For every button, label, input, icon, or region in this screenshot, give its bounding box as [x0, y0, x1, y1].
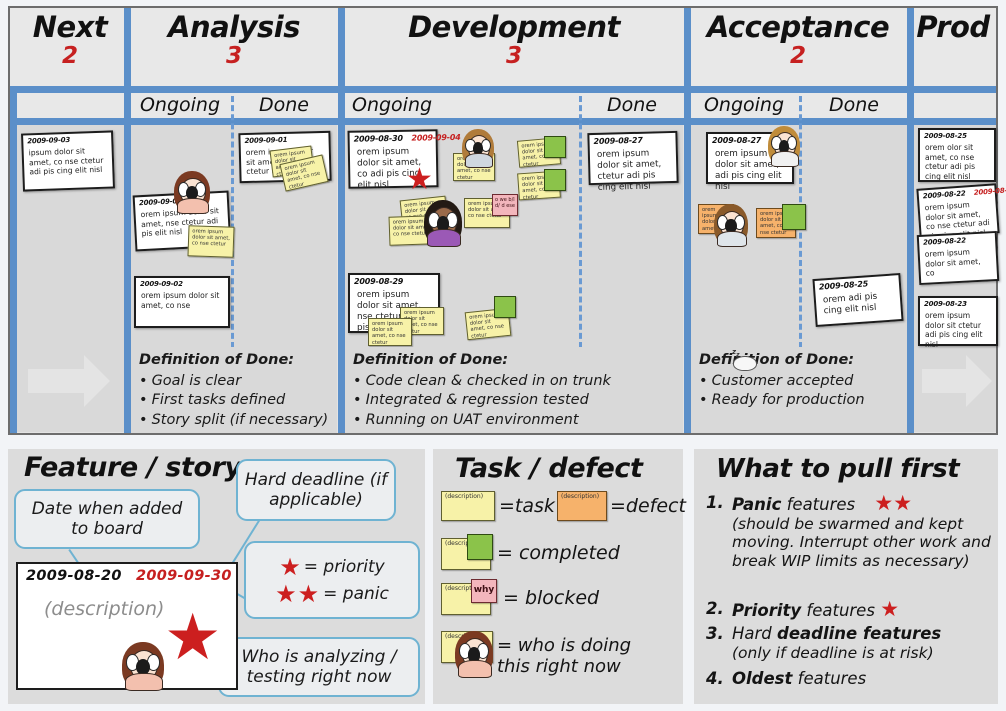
- example-card-deadline: 2009-09-30: [136, 568, 232, 584]
- dod-title: Definition of Done:: [699, 351, 907, 371]
- pull-item-note: (should be swarmed and kept moving. Inte…: [732, 515, 994, 571]
- pull-item-keyword: Oldest: [732, 669, 792, 688]
- bubble-who-is-working: Who is analyzing / testing right now: [218, 637, 420, 697]
- dod-list: Code clean & checked in on trunk Integra…: [353, 372, 683, 431]
- board-hrule-sub: [10, 118, 996, 125]
- pull-item-number: 4.: [706, 669, 724, 689]
- column-name: Next: [16, 10, 124, 44]
- panic-label: = panic: [323, 584, 389, 604]
- subdivider-analysis: [231, 96, 234, 348]
- card[interactable]: 2009-08-27 orem ipsum dolor sit amet, ct…: [587, 131, 678, 185]
- definition-of-done-acceptance: Definition of Done: Customer accepted Re…: [691, 347, 907, 433]
- card-date: 2009-08-30: [354, 134, 403, 144]
- card-text: orem ipsum dolor sit amet, ctetur adi pi…: [590, 144, 677, 198]
- priority-row-one-star: ★ = priority: [279, 555, 385, 579]
- dod-item: First tasks defined: [139, 391, 337, 411]
- column-name: Development: [344, 10, 684, 44]
- example-card-date: 2009-08-20: [26, 568, 122, 584]
- dod-item: Customer accepted: [699, 372, 907, 392]
- column-divider-2: [338, 8, 345, 433]
- card[interactable]: 2009-09-02 orem ipsum dolor sit amet, co…: [134, 276, 230, 328]
- column-name: Analysis: [130, 10, 338, 44]
- column-header-acceptance: Acceptance 2: [688, 10, 908, 68]
- column-header-analysis: Analysis 3: [130, 10, 338, 68]
- defect-swatch: (description): [557, 491, 607, 521]
- board-subheader-row: Ongoing Done Ongoing Done Ongoing Done: [10, 92, 996, 118]
- legend-task-defect: Task / defect (description) =task (descr…: [433, 449, 683, 704]
- pull-item-note: (only if deadline is at risk): [732, 644, 994, 663]
- card-dates: 2009-08-29: [350, 275, 438, 286]
- flow-arrow-left: [28, 353, 114, 409]
- dod-title: Definition of Done:: [353, 351, 683, 371]
- card-date: 2009-08-25: [924, 132, 967, 140]
- pull-item-keyword: Hard: [732, 624, 777, 643]
- completed-label: = completed: [497, 542, 620, 564]
- card-text: orem olor sit amet, co nse ctetur adi pi…: [920, 140, 994, 184]
- dod-list: Customer accepted Ready for production: [699, 372, 907, 411]
- priority-label: = priority: [304, 557, 385, 577]
- avatar: [768, 126, 800, 166]
- pull-item-keyword: Priority: [732, 601, 801, 620]
- column-name: Prod: [910, 10, 996, 44]
- flow-arrow-right: [922, 353, 998, 409]
- bubble-hard-deadline: Hard deadline (if applicable): [236, 459, 396, 521]
- card[interactable]: 2009-08-25 orem adi pis cing elit nisl: [812, 273, 903, 327]
- dod-title: Definition of Done:: [139, 351, 337, 371]
- subcol-analysis-ongoing: Ongoing: [130, 93, 230, 117]
- pull-item-3: 3. Hard deadline features (only if deadl…: [706, 624, 994, 662]
- subcol-analysis-done: Done: [234, 93, 334, 117]
- task-swatch: (description): [441, 491, 495, 521]
- board-hrule-top: [10, 86, 996, 93]
- column-name: Acceptance: [688, 10, 908, 44]
- card[interactable]: 2009-09-03 ipsum dolor sit amet, co nse …: [21, 130, 115, 191]
- pull-item-number: 2.: [706, 599, 724, 619]
- pull-item-keyword: Panic: [732, 495, 781, 514]
- card-dates: 2009-08-25: [920, 130, 994, 140]
- legend-feature-story: Feature / story Date when added to board…: [8, 449, 425, 704]
- pull-item-1: 1. Panic features ★★ (should be swarmed …: [706, 493, 994, 570]
- board-header-row: Next 2 Analysis 3 Development 3 Acceptan…: [10, 8, 996, 88]
- example-card-description: (description): [44, 598, 164, 620]
- column-divider-4: [907, 8, 914, 433]
- pull-item-body: Hard deadline features (only if deadline…: [732, 624, 994, 662]
- card-date: 2009-09-02: [140, 280, 183, 288]
- blocked-marker[interactable]: o we b/l d/ d ese: [492, 194, 518, 216]
- subcol-development-ongoing: Ongoing: [346, 93, 492, 117]
- subcol-acceptance-done: Done: [802, 93, 906, 117]
- card-date: 2009-08-27: [593, 136, 642, 146]
- pull-item-2: 2. Priority features ★: [706, 599, 994, 621]
- completed-marker[interactable]: [782, 204, 806, 230]
- card-date: 2009-08-29: [354, 277, 403, 286]
- dod-item: Integrated & regression tested: [353, 391, 683, 411]
- dod-item: Goal is clear: [139, 372, 337, 392]
- card-date: 2009-09-03: [27, 136, 70, 145]
- completed-marker[interactable]: [544, 169, 566, 191]
- task-swatch-label: =task: [499, 495, 555, 517]
- card-dates: 2009-09-02: [136, 278, 228, 288]
- bubble-date-added: Date when added to board: [14, 489, 200, 549]
- assignee-avatar-icon: [455, 631, 493, 677]
- avatar: [462, 129, 494, 167]
- card-date: 2009-08-27: [712, 136, 761, 145]
- avatar: [174, 171, 210, 213]
- card[interactable]: 2009-08-25 orem olor sit amet, co nse ct…: [918, 128, 996, 182]
- kanban-poster: Next 2 Analysis 3 Development 3 Acceptan…: [0, 0, 1006, 711]
- dod-item: Ready for production: [699, 391, 907, 411]
- panic-star-icon: ★: [874, 491, 893, 515]
- definition-of-done-analysis: Definition of Done: Goal is clear First …: [131, 347, 337, 433]
- card-text: ipsum dolor sit amet, co nse ctetur adi …: [23, 142, 112, 180]
- blocked-marker-icon: why: [471, 579, 497, 603]
- column-header-development: Development 3: [344, 10, 684, 68]
- legend-title: What to pull first: [716, 453, 959, 485]
- card-deadline: 2009-09-04: [411, 133, 460, 143]
- panic-star-icon: ★: [893, 491, 912, 515]
- wip-limit: 2: [16, 44, 124, 68]
- pull-item-rest: features: [792, 669, 866, 688]
- priority-star-icon: ★: [279, 555, 301, 579]
- pull-item-4: 4. Oldest features: [706, 669, 994, 689]
- pull-item-rest: features: [781, 495, 855, 514]
- pull-item-body: Panic features ★★ (should be swarmed and…: [732, 493, 994, 570]
- card-text: orem ipsum dolor sit amet, co: [919, 243, 997, 281]
- card[interactable]: 2009-08-23 orem ipsum dolor sit ctetur a…: [918, 296, 998, 346]
- subcol-acceptance-ongoing: Ongoing: [690, 93, 798, 117]
- legend-what-to-pull-first: What to pull first 1. Panic features ★★ …: [694, 449, 998, 704]
- priority-star: ★: [406, 165, 433, 195]
- pull-item-rest: deadline features: [777, 624, 941, 643]
- pull-item-rest: features: [801, 601, 875, 620]
- avatar: [424, 200, 462, 246]
- avatar: [714, 204, 748, 246]
- legend-title: Feature / story: [24, 452, 242, 484]
- pull-item-body: Oldest features: [732, 669, 994, 689]
- card-dates: 2009-08-30 2009-09-04: [350, 131, 436, 143]
- dod-item: Running on UAT environment: [353, 411, 683, 431]
- wip-limit: 2: [688, 44, 908, 68]
- subcol-development-done: Done: [582, 93, 682, 117]
- card-date: 2009-08-23: [924, 300, 967, 308]
- priority-row-two-stars: ★ ★ = panic: [275, 582, 389, 606]
- column-divider-1: [124, 8, 131, 433]
- column-header-prod: Prod: [910, 10, 996, 44]
- pull-item-number: 1.: [706, 493, 724, 513]
- legend-title: Task / defect: [455, 453, 643, 485]
- dod-item: Story split (if necessary): [139, 411, 337, 431]
- card-text: orem ipsum dolor sit ctetur adi pis cing…: [920, 308, 996, 352]
- wip-limit: 3: [130, 44, 338, 68]
- zzz-icon: zz: [732, 348, 739, 358]
- card-deadline: 2009-08-23: [974, 186, 1006, 197]
- panic-star-icon: ★: [298, 582, 320, 606]
- task-sticky[interactable]: orem ipsum dolor sit amet, co nse ctetur: [187, 225, 234, 258]
- defect-swatch-label: =defect: [610, 495, 686, 517]
- pull-item-number: 3.: [706, 624, 724, 644]
- assignee-label: = who is doing this right now: [497, 635, 669, 677]
- completed-marker-icon: [467, 534, 493, 560]
- column-divider-3: [684, 8, 691, 433]
- completed-marker[interactable]: [544, 136, 566, 158]
- example-avatar: [122, 642, 164, 690]
- definition-of-done-development: Definition of Done: Code clean & checked…: [345, 347, 683, 433]
- bubble-priority-legend: ★ = priority ★ ★ = panic: [244, 541, 420, 619]
- column-header-next: Next 2: [16, 10, 124, 68]
- subdivider-development: [579, 96, 582, 348]
- example-priority-star: ★: [164, 606, 221, 670]
- card[interactable]: 2009-08-22 orem ipsum dolor sit amet, co: [917, 231, 1000, 285]
- blocked-label: = blocked: [503, 587, 599, 609]
- pull-item-body: Priority features ★: [732, 599, 994, 621]
- task-sticky[interactable]: orem ipsum dolor sit amet, co nse ctetur: [368, 318, 412, 346]
- dod-list: Goal is clear First tasks defined Story …: [139, 372, 337, 431]
- kanban-board: Next 2 Analysis 3 Development 3 Acceptan…: [8, 6, 998, 435]
- completed-marker[interactable]: [494, 296, 516, 318]
- example-feature-card[interactable]: 2009-08-20 2009-09-30 (description) ★: [16, 562, 238, 690]
- wip-limit: 3: [344, 44, 684, 68]
- card-dates: 2009-08-23: [920, 298, 996, 308]
- card-date: 2009-09-01: [244, 136, 287, 145]
- board-left-edge: [10, 90, 17, 433]
- card-text: orem adi pis cing elit nisl: [815, 286, 901, 322]
- panic-star-icon: ★: [275, 582, 297, 606]
- card-text: orem ipsum dolor sit amet, co nse: [136, 288, 228, 313]
- priority-star-icon: ★: [880, 597, 899, 621]
- dod-item: Code clean & checked in on trunk: [353, 372, 683, 392]
